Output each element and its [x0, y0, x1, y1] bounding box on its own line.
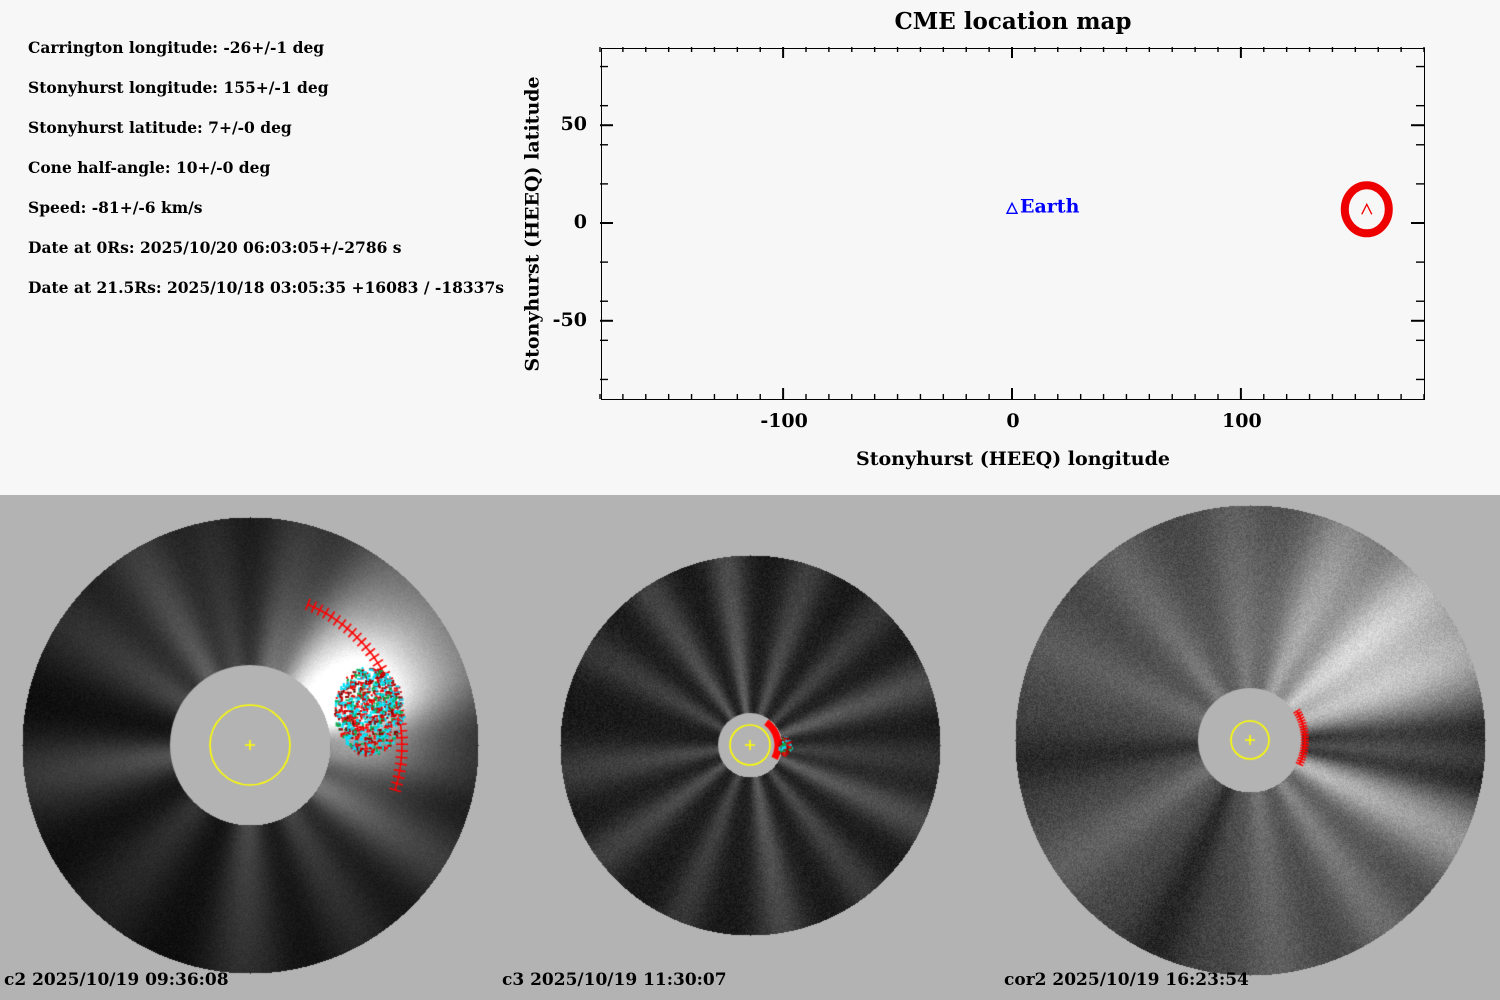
x-tick-label: -100 — [744, 410, 824, 432]
chart-title: CME location map — [601, 8, 1425, 35]
top-panel: Carrington longitude: -26+/-1 deg Stonyh… — [0, 0, 1500, 495]
cme-analysis-page: Carrington longitude: -26+/-1 deg Stonyh… — [0, 0, 1500, 1000]
x-tick-label: 0 — [973, 410, 1053, 432]
coronagraph-images — [0, 495, 1500, 1000]
x-axis-label: Stonyhurst (HEEQ) longitude — [601, 448, 1425, 470]
coronagraph-panel: c2 2025/10/19 09:36:08 c3 2025/10/19 11:… — [0, 495, 1500, 1000]
plot-svg: Earth — [600, 47, 1424, 399]
y-tick-label: -50 — [521, 309, 587, 331]
y-tick-label: 50 — [521, 113, 587, 135]
y-tick-label: 0 — [521, 211, 587, 233]
earth-marker: Earth — [1007, 196, 1080, 218]
earth-label: Earth — [1020, 196, 1080, 218]
cme-location-map-chart: CME location map Stonyhurst (HEEQ) latit… — [0, 0, 1500, 495]
coronagraph-caption-c3: c3 2025/10/19 11:30:07 — [502, 970, 727, 990]
x-tick-label: 100 — [1202, 410, 1282, 432]
cme-marker — [1345, 186, 1389, 234]
coronagraph-caption-c2: c2 2025/10/19 09:36:08 — [4, 970, 229, 990]
plot-area: Earth — [601, 48, 1425, 400]
coronagraph-caption-cor2: cor2 2025/10/19 16:23:54 — [1004, 970, 1249, 990]
